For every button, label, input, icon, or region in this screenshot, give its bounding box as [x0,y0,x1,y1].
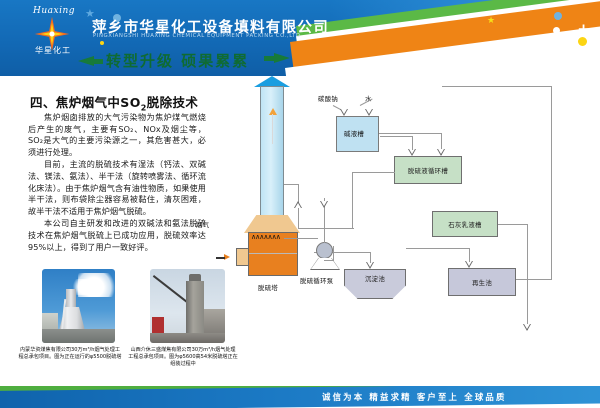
photo1-ground [42,329,115,343]
article-paragraph-1: 焦炉烟囱排放的大气污染物为焦炉煤气燃烧后产生的废气，主要有SO₂、NOx及烟尘等… [28,112,206,158]
desulf-circulation-pump [316,242,333,259]
article-paragraph-3: 本公司自主研发和改进的双碱法和氨法脱硫技术在焦炉烟气脱硫上已成功应用，脱硫效率达… [28,218,206,253]
valve-na2co3 [340,109,349,116]
stack-base [244,215,300,233]
regeneration-pool: 再生池 [448,268,516,296]
process-flow-diagram: ∧∧∧∧∧∧∧ 烟气 脱硫塔 碳酸钠 水 碱液槽 脱硫液循环槽 [232,76,600,368]
article-title-main: 四、焦炉烟气中SO [30,95,141,110]
stack-body [260,86,284,216]
slogan-text: 转型升级 硕果累累 [106,50,249,71]
photo2-building [204,309,225,335]
photo-desulfurization-tower-running [42,269,115,343]
deco-dot-yellow-small [100,41,104,45]
poster-page: ★ ★ + Huaxing 华星化工 萍乡市华星化工设备填料有限公司 PINGX… [0,0,600,408]
plus-icon: + [577,23,590,36]
article-body: 焦炉烟囱排放的大气污染物为焦炉煤气燃烧后产生的废气，主要有SO₂、NOx及烟尘等… [28,112,206,254]
arrow-left-tail [91,59,103,64]
line-sediment-inlet-v [370,252,371,263]
line-regen-out-v [551,86,552,280]
label-lime-milk-tank: 石灰乳液槽 [448,220,481,229]
scrubber-divider [249,253,297,254]
article-title: 四、焦炉烟气中SO2脱除技术 [30,92,198,113]
logo-chinese-text: 华星化工 [24,45,82,56]
valve-regen-inlet-a [465,261,474,268]
valve-pump-suction [320,201,329,208]
line-alkali-to-circ [379,133,442,134]
valve-tower-return [294,201,303,208]
label-tower: 脱硫塔 [258,283,278,292]
deco-dot-white [553,27,560,34]
photo2-ground [150,333,225,343]
arrow-right-icon [274,53,290,63]
valve-sediment-inlet [366,262,375,269]
gas-inlet-line [216,257,225,259]
lime-milk-tank: 石灰乳液槽 [432,211,498,237]
line-circ-inlet-a-h [380,136,413,137]
valve-circ-inlet-a [408,149,417,156]
valve-water [365,109,374,116]
line-regen-out-h [516,279,552,280]
line-pump-crossover [298,228,354,229]
footer-blue-bar [0,386,600,408]
article-title-tail: 脱除技术 [147,95,199,110]
company-name-en: PINGXIANGSHI HUAXING CHEMICAL EQUIPMENT … [93,33,301,39]
photo-caption-1: 内蒙华资煤焦有限公司30万m³/h烟气处理工程总承包项目。图为正在运行的φ550… [18,347,122,361]
star-small-icon: ★ [487,17,495,26]
line-pump-to-tower [284,238,318,239]
label-sodium-carbonate: 碳酸钠 [318,94,338,103]
line-regen-inlet-a-h [406,248,470,249]
photo-tower-assembly [150,269,225,343]
gas-up-arrow-line [272,114,273,144]
photo-caption-2: 山西介休三盛煤焦有限公司30万m³/h烟气处理工程总承包项目。图为φ5600高5… [128,347,238,369]
label-sedimentation-tank: 沉淀池 [365,274,385,283]
page-body: 四、焦炉烟气中SO2脱除技术 焦炉烟囱排放的大气污染物为焦炉煤气燃烧后产生的废气… [0,76,600,386]
label-flue-gas: 烟气 [196,220,209,229]
line-pump-discharge-h [324,260,334,261]
line-regen-inlet-a-v [469,248,470,262]
line-regen-return-h [442,86,552,87]
valve-circ-inlet-b [437,149,446,156]
label-desulf-circulation-tank: 脱硫液循环槽 [408,166,448,175]
footer-slogan: 诚信为本 精益求精 客户至上 全球品质 [322,391,507,403]
label-alkali-tank: 碱液槽 [344,129,364,138]
photo2-tower [186,281,204,335]
line-tower-return-h [284,184,299,185]
gas-inlet-duct [236,248,249,266]
page-header: ★ ★ + Huaxing 华星化工 萍乡市华星化工设备填料有限公司 PINGX… [0,0,600,76]
deco-dot-yellow [578,37,587,46]
line-lime-out-v [527,224,528,330]
label-regeneration-pool: 再生池 [472,278,492,287]
desulf-circulation-tank: 脱硫液循环槽 [394,156,462,184]
line-circ-inlet-a-v [412,136,413,150]
sedimentation-tank: 沉淀池 [344,269,406,299]
header-slogan: 转型升级 硕果累累 [78,48,318,74]
label-circulation-pump: 脱硫循环泵 [300,276,333,285]
valve-lime-to-regen [523,324,532,331]
line-circ-to-tower-v [352,172,353,228]
page-footer [0,386,600,408]
line-pump-discharge [333,246,334,260]
company-logo: Huaxing 华星化工 [20,4,85,60]
line-circ-to-tower [352,172,395,173]
deco-dot-pale-right [554,12,562,20]
line-lime-out-h [498,224,528,225]
article-paragraph-2: 目前，主流的脱硫技术有湿法（钙法、双碱法、镁法、氨法）、半干法（旋转喷雾法、循环… [28,159,206,217]
